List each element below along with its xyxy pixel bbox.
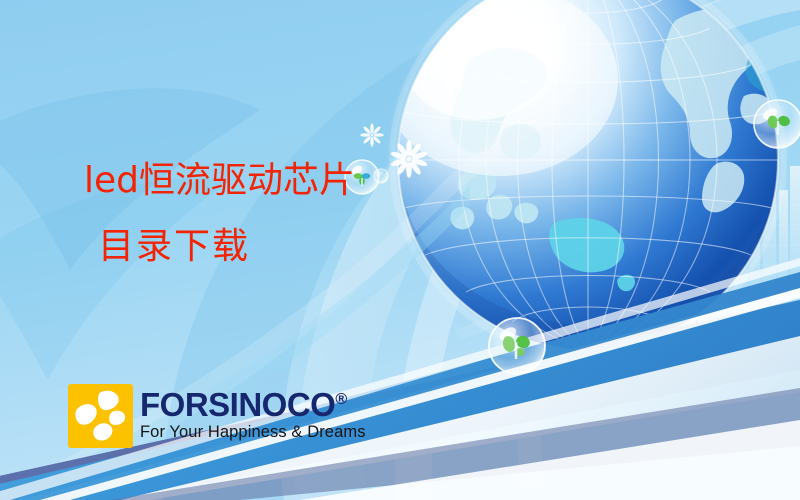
logo-brand-text: FORSINOCO bbox=[140, 386, 335, 423]
logo-brand-name: FORSINOCO® bbox=[140, 390, 366, 420]
headline-line-2: 目录下载 bbox=[98, 229, 355, 265]
bubble-icon-edge bbox=[754, 100, 800, 148]
bubble-icon-large bbox=[489, 318, 545, 374]
flower-icon-small bbox=[360, 123, 384, 147]
forsinoco-pinwheel-mark bbox=[68, 384, 133, 448]
logo-tagline: For Your Happiness & Dreams bbox=[140, 423, 366, 442]
registered-trademark-icon: ® bbox=[335, 391, 346, 408]
bubble-icon-tiny bbox=[374, 169, 388, 183]
logo-wordmark-block: FORSINOCO® For Your Happiness & Dreams bbox=[140, 390, 366, 442]
brand-logo: FORSINOCO® For Your Happiness & Dreams bbox=[68, 384, 366, 448]
poster-headline: led恒流驱动芯片 目录下载 bbox=[84, 163, 355, 265]
poster-canvas: led恒流驱动芯片 目录下载 FORSINOCO® For Your Happi… bbox=[0, 0, 800, 500]
headline-line-1: led恒流驱动芯片 bbox=[84, 163, 355, 207]
